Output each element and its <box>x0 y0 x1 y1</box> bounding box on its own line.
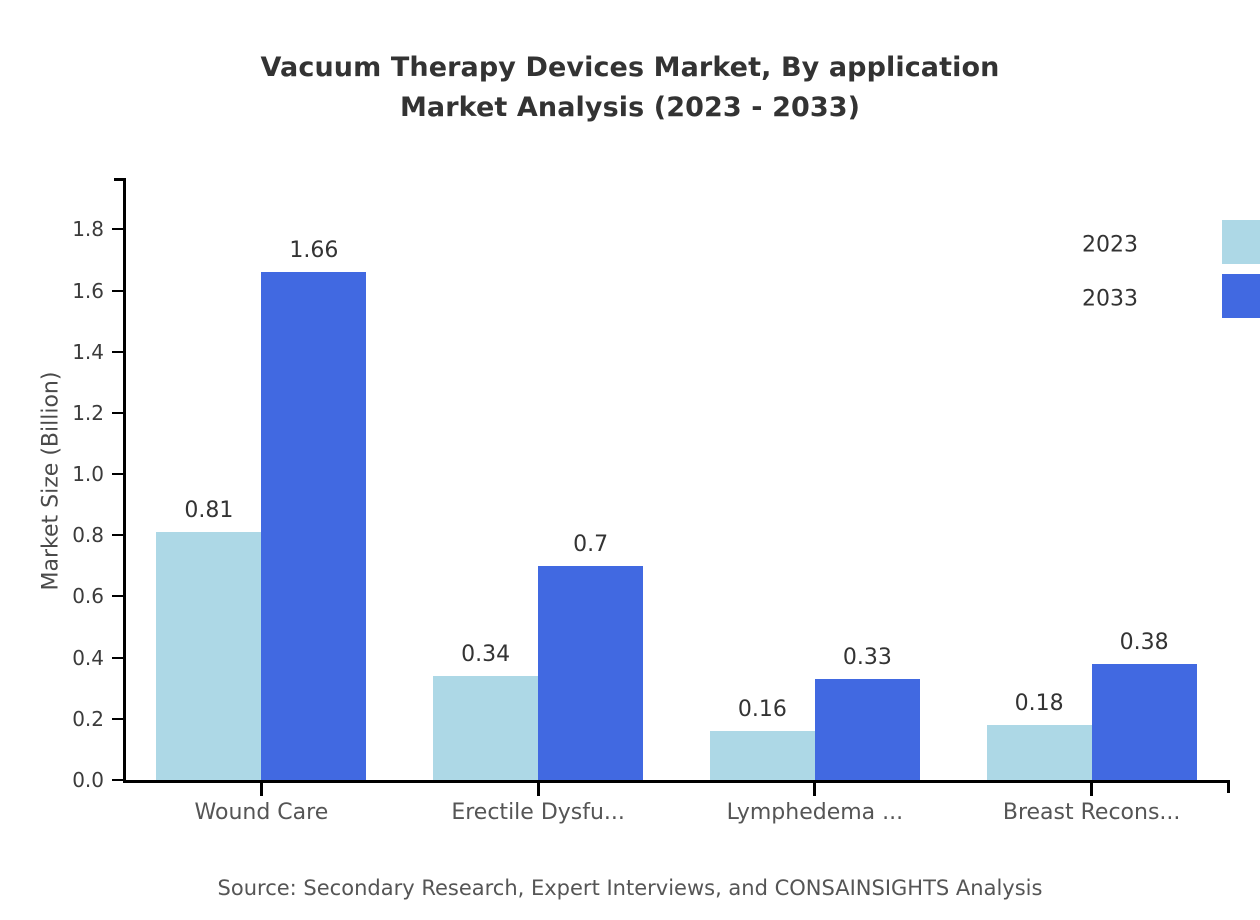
x-axis-right-cap <box>1227 780 1230 793</box>
x-tick-mark <box>260 783 263 796</box>
bar-value-label: 0.81 <box>184 498 233 523</box>
x-tick-label: Breast Recons... <box>1003 800 1181 825</box>
legend-item[interactable]: 2033 <box>1100 272 1260 326</box>
x-tick-mark <box>537 783 540 796</box>
y-tick-label: 1.0 <box>72 462 104 486</box>
bar-value-label: 0.38 <box>1120 630 1169 655</box>
x-tick-mark <box>1090 783 1093 796</box>
y-tick-mark: 1.0 <box>112 473 123 475</box>
bar[interactable]: 0.38 <box>1092 664 1197 780</box>
x-tick-mark <box>813 783 816 796</box>
y-tick-mark: 0.6 <box>112 595 123 597</box>
y-tick-mark: 1.6 <box>112 290 123 292</box>
y-tick-label: 0.2 <box>72 707 104 731</box>
y-tick-label: 0.8 <box>72 523 104 547</box>
y-tick-label: 1.4 <box>72 340 104 364</box>
bar-value-label: 0.33 <box>843 645 892 670</box>
chart-title-block: Vacuum Therapy Devices Market, By applic… <box>0 48 1260 128</box>
x-tick-label: Lymphedema ... <box>727 800 904 825</box>
bar[interactable]: 0.33 <box>815 679 920 780</box>
bar[interactable]: 0.34 <box>433 676 538 780</box>
plot-area: Market Size (Billion) 0.00.20.40.60.81.0… <box>123 178 1230 783</box>
legend-color-swatch <box>1222 274 1260 318</box>
bar[interactable]: 0.16 <box>710 731 815 780</box>
y-axis-title: Market Size (Billion) <box>39 371 64 590</box>
legend-label: 2033 <box>1082 287 1138 312</box>
y-tick-label: 0.4 <box>72 646 104 670</box>
y-tick-mark: 0.2 <box>112 718 123 720</box>
bar[interactable]: 0.18 <box>987 725 1092 780</box>
y-axis-spine <box>123 178 126 783</box>
y-tick-label: 1.2 <box>72 401 104 425</box>
y-tick-mark: 1.4 <box>112 351 123 353</box>
source-note: Source: Secondary Research, Expert Inter… <box>0 876 1260 900</box>
legend-item[interactable]: 2023 <box>1100 218 1260 272</box>
bar-value-label: 0.16 <box>738 697 787 722</box>
y-tick-mark: 0.8 <box>112 534 123 536</box>
y-tick-mark: 1.2 <box>112 412 123 414</box>
x-tick-label: Wound Care <box>195 800 329 825</box>
legend-label: 2023 <box>1082 233 1138 258</box>
bar-value-label: 0.18 <box>1015 691 1064 716</box>
y-tick-label: 0.6 <box>72 584 104 608</box>
y-tick-label: 0.0 <box>72 768 104 792</box>
legend-color-swatch <box>1222 220 1260 264</box>
y-axis-top-cap <box>114 178 126 181</box>
bar-value-label: 0.34 <box>461 642 510 667</box>
bar-value-label: 0.7 <box>573 532 608 557</box>
x-tick-label: Erectile Dysfu... <box>451 800 625 825</box>
bar[interactable]: 0.81 <box>156 532 261 780</box>
y-tick-mark: 0.4 <box>112 657 123 659</box>
bar[interactable]: 1.66 <box>261 272 366 780</box>
y-tick-mark: 1.8 <box>112 228 123 230</box>
y-tick-label: 1.6 <box>72 279 104 303</box>
chart-legend: 20232033 <box>1100 218 1260 326</box>
chart-title: Vacuum Therapy Devices Market, By applic… <box>0 48 1260 88</box>
chart-subtitle: Market Analysis (2023 - 2033) <box>0 88 1260 128</box>
bar[interactable]: 0.7 <box>538 566 643 780</box>
x-axis-spine <box>123 780 1230 783</box>
bar-value-label: 1.66 <box>289 238 338 263</box>
y-tick-label: 1.8 <box>72 217 104 241</box>
y-tick-mark: 0.0 <box>112 779 123 781</box>
chart-figure: Vacuum Therapy Devices Market, By applic… <box>0 0 1260 920</box>
